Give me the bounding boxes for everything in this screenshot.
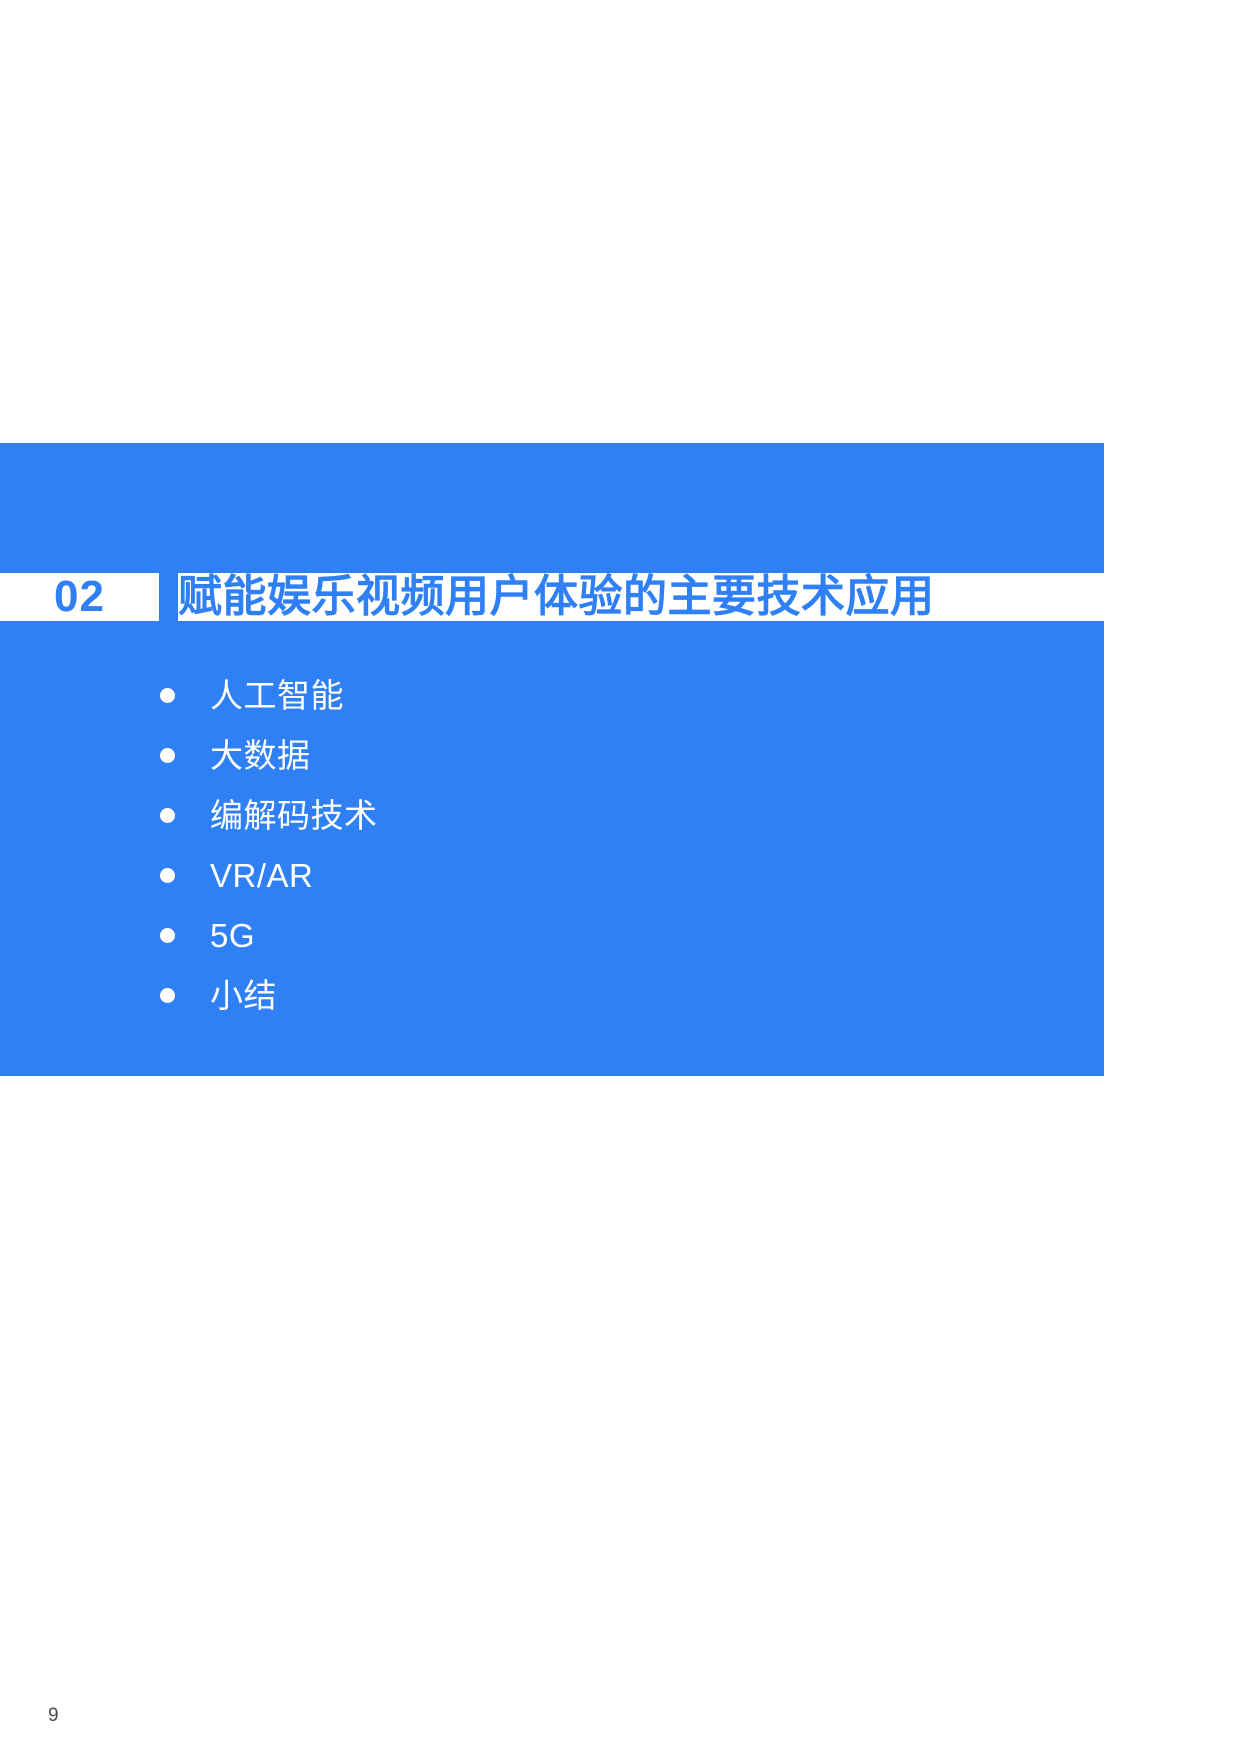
page-canvas: 02 赋能娱乐视频用户体验的主要技术应用 人工智能 大数据 编解码技术 VR/A… bbox=[0, 0, 1240, 1754]
list-item-label: 大数据 bbox=[210, 739, 311, 772]
bullet-dot-icon bbox=[160, 988, 175, 1003]
list-item-label: 5G bbox=[210, 919, 255, 952]
section-number: 02 bbox=[0, 573, 159, 621]
bullet-dot-icon bbox=[160, 688, 175, 703]
list-item: VR/AR bbox=[160, 845, 378, 905]
bullet-dot-icon bbox=[160, 808, 175, 823]
list-item-label: 小结 bbox=[210, 979, 277, 1012]
page-number: 9 bbox=[48, 1706, 59, 1725]
list-item-label: 人工智能 bbox=[210, 679, 344, 712]
section-divider-panel: 02 赋能娱乐视频用户体验的主要技术应用 人工智能 大数据 编解码技术 VR/A… bbox=[0, 443, 1104, 1076]
section-bullet-list: 人工智能 大数据 编解码技术 VR/AR 5G 小结 bbox=[160, 665, 378, 1025]
list-item: 小结 bbox=[160, 965, 378, 1025]
list-item: 大数据 bbox=[160, 725, 378, 785]
section-title-divider bbox=[159, 515, 178, 621]
list-item-label: 编解码技术 bbox=[210, 799, 378, 832]
list-item: 5G bbox=[160, 905, 378, 965]
list-item: 编解码技术 bbox=[160, 785, 378, 845]
section-title: 赋能娱乐视频用户体验的主要技术应用 bbox=[178, 573, 935, 621]
list-item: 人工智能 bbox=[160, 665, 378, 725]
bullet-dot-icon bbox=[160, 868, 175, 883]
bullet-dot-icon bbox=[160, 748, 175, 763]
list-item-label: VR/AR bbox=[210, 859, 313, 892]
bullet-dot-icon bbox=[160, 928, 175, 943]
